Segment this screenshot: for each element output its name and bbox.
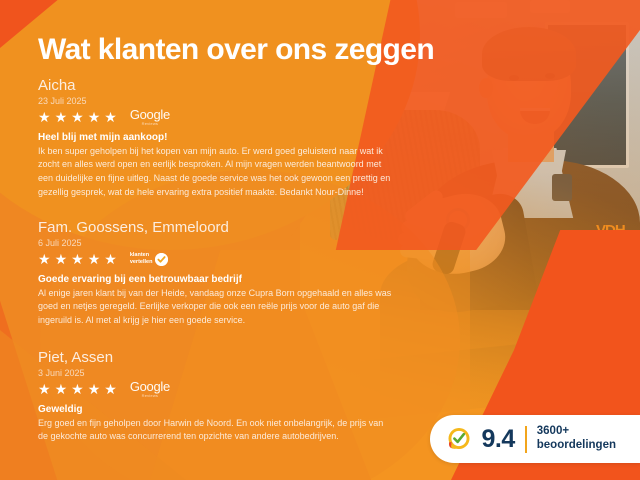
google-reviews-sublabel: Reviews xyxy=(142,122,159,126)
review-heading: Heel blij met mijn aankoop! xyxy=(38,132,393,143)
review-card: Fam. Goossens, Emmeloord 6 Juli 2025 ★ ★… xyxy=(38,220,393,328)
star-icon: ★ xyxy=(38,382,52,396)
review-author: Fam. Goossens, Emmeloord xyxy=(38,220,393,237)
google-wordmark: Google xyxy=(130,108,170,121)
star-icon: ★ xyxy=(38,110,52,124)
star-icon: ★ xyxy=(71,252,85,266)
rating-count-block: 3600+ beoordelingen xyxy=(537,425,616,452)
review-card: Piet, Assen 3 Juni 2025 ★ ★ ★ ★ ★ Google… xyxy=(38,350,393,444)
google-wordmark: Google xyxy=(130,380,170,393)
page-title: Wat klanten over ons zeggen xyxy=(38,33,434,67)
check-circle-icon xyxy=(155,253,168,266)
review-meta: ★ ★ ★ ★ ★ klanten vertellen xyxy=(38,251,393,268)
rating-count: 3600+ xyxy=(537,425,616,439)
star-icon: ★ xyxy=(71,110,85,124)
star-rating: ★ ★ ★ ★ ★ xyxy=(38,252,118,266)
review-meta: ★ ★ ★ ★ ★ Google Reviews xyxy=(38,381,393,398)
star-rating: ★ ★ ★ ★ ★ xyxy=(38,382,118,396)
review-date: 3 Juni 2025 xyxy=(38,368,393,378)
google-reviews-sublabel: Reviews xyxy=(142,394,159,398)
star-icon: ★ xyxy=(71,382,85,396)
review-author: Aicha xyxy=(38,78,393,95)
star-icon: ★ xyxy=(104,110,118,124)
rating-divider xyxy=(525,426,527,453)
star-icon: ★ xyxy=(88,110,102,124)
star-icon: ★ xyxy=(104,382,118,396)
klantenvertellen-logo-icon xyxy=(446,426,472,452)
google-reviews-badge: Google Reviews xyxy=(130,380,170,398)
overall-rating-badge[interactable]: 9.4 3600+ beoordelingen xyxy=(430,415,640,463)
star-rating: ★ ★ ★ ★ ★ xyxy=(38,110,118,124)
star-icon: ★ xyxy=(88,382,102,396)
google-reviews-badge: Google Reviews xyxy=(130,108,170,126)
review-date: 23 Juli 2025 xyxy=(38,96,393,106)
review-meta: ★ ★ ★ ★ ★ Google Reviews xyxy=(38,109,393,126)
review-heading: Geweldig xyxy=(38,404,393,415)
review-card: Aicha 23 Juli 2025 ★ ★ ★ ★ ★ Google Revi… xyxy=(38,78,393,200)
klantenvertellen-badge: klanten vertellen xyxy=(130,252,169,266)
review-body: Ik ben super geholpen bij het kopen van … xyxy=(38,145,393,201)
rating-count-label: beoordelingen xyxy=(537,439,616,453)
star-icon: ★ xyxy=(55,382,69,396)
klantenvertellen-line1: klanten xyxy=(130,252,153,259)
star-icon: ★ xyxy=(38,252,52,266)
star-icon: ★ xyxy=(88,252,102,266)
klantenvertellen-line2: vertellen xyxy=(130,259,153,266)
review-author: Piet, Assen xyxy=(38,350,393,367)
star-icon: ★ xyxy=(55,252,69,266)
rating-score: 9.4 xyxy=(482,427,515,452)
klantenvertellen-wordmark: klanten vertellen xyxy=(130,252,153,266)
review-date: 6 Juli 2025 xyxy=(38,238,393,248)
review-body: Erg goed en fijn geholpen door Harwin de… xyxy=(38,417,393,445)
review-heading: Goede ervaring bij een betrouwbaar bedri… xyxy=(38,274,393,285)
review-body: Al enige jaren klant bij van der Heide, … xyxy=(38,287,393,329)
review-banner: VDH Wat klanten over ons zeggen Aicha 23… xyxy=(0,0,640,480)
star-icon: ★ xyxy=(104,252,118,266)
star-icon: ★ xyxy=(55,110,69,124)
